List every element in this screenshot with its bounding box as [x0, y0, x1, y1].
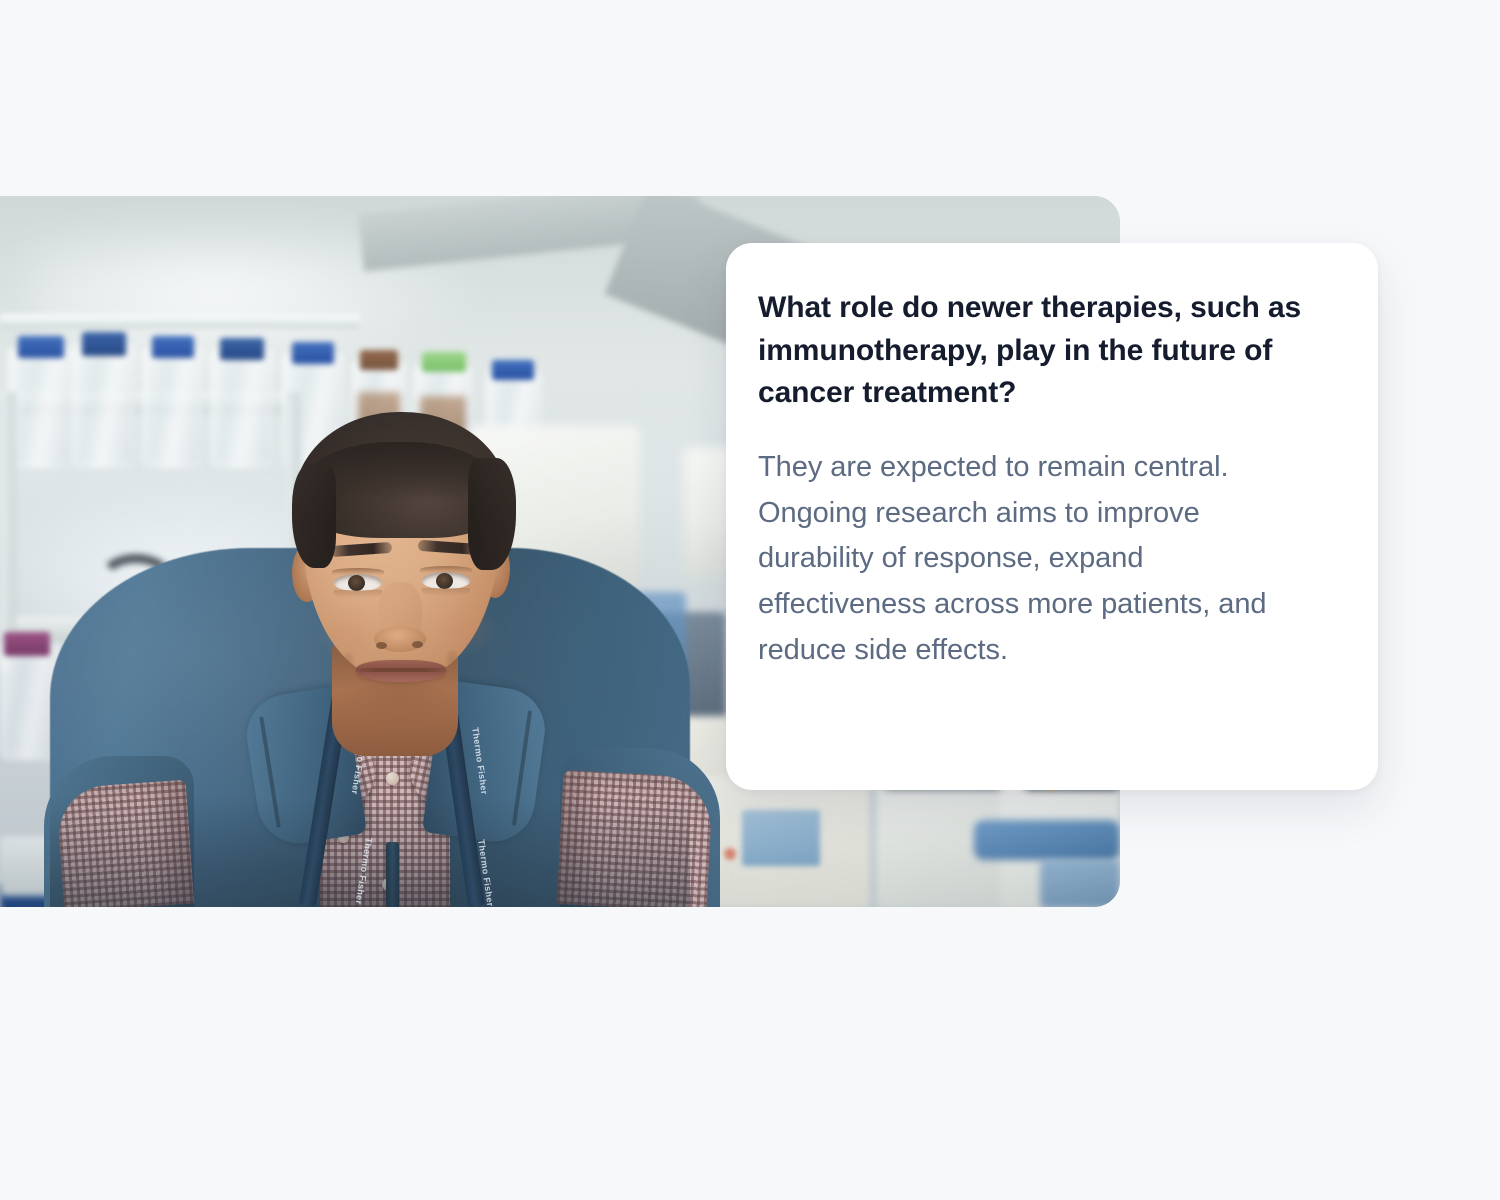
eyelid-right [420, 566, 472, 573]
hair-side-right [468, 458, 516, 570]
answer-text: They are expected to remain central. Ong… [758, 445, 1318, 674]
cheek-right [432, 602, 498, 656]
eye-left [334, 574, 382, 591]
question-text: What role do newer therapies, such as im… [758, 287, 1318, 415]
nostril-right [412, 641, 423, 648]
iris-right [436, 573, 453, 589]
iris-left [348, 575, 365, 591]
under-eye-right [422, 588, 470, 596]
eyelid-left [332, 568, 384, 575]
lip-line [354, 668, 448, 672]
eye-right [422, 572, 470, 589]
under-eye-left [334, 590, 382, 598]
shirt-button [386, 772, 399, 785]
qa-card: What role do newer therapies, such as im… [726, 243, 1378, 790]
nostril-left [376, 642, 387, 649]
hair-side-left [292, 464, 336, 568]
chin-shading [340, 682, 460, 730]
